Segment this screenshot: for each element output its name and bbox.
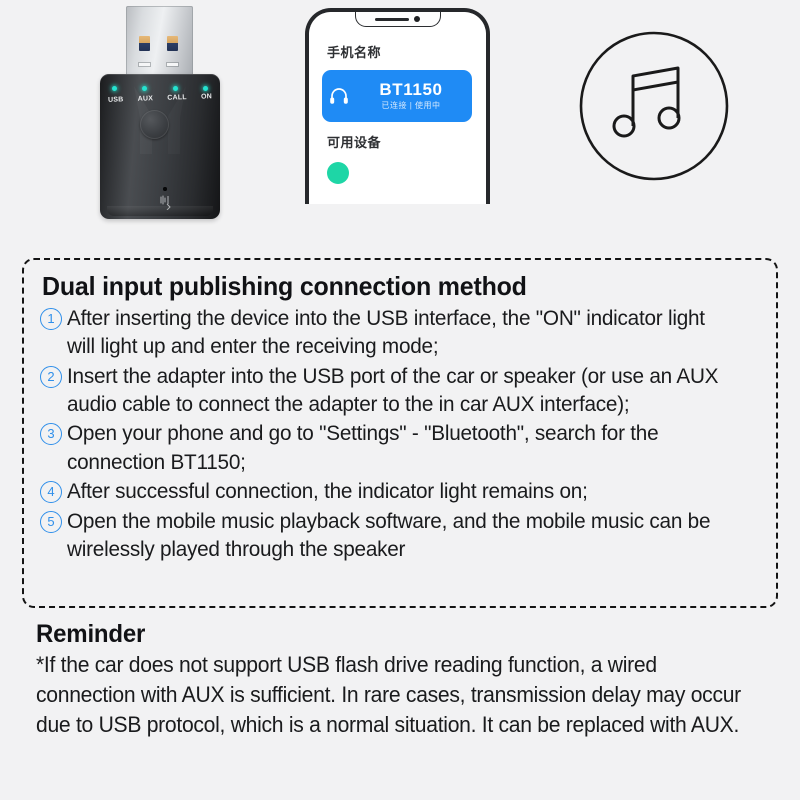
- usb-pin: [139, 36, 150, 51]
- available-device-avatar: [327, 162, 349, 184]
- step-number-badge: 2: [40, 366, 62, 388]
- reminder-section: Reminder *If the car does not support US…: [36, 620, 778, 740]
- reminder-body: *If the car does not support USB flash d…: [36, 650, 748, 740]
- led-aux: [142, 86, 147, 91]
- paired-device-name: BT1150: [356, 81, 466, 99]
- step-text: Open your phone and go to "Settings" - "…: [67, 419, 738, 476]
- screen-heading-available-devices: 可用设备: [327, 132, 381, 151]
- paired-device-card[interactable]: BT1150 已连接 | 使用中: [322, 70, 472, 122]
- screen-heading-device-name: 手机名称: [327, 42, 381, 61]
- led-indicator-row: [112, 86, 208, 91]
- adapter-body: USB AUX CALL ON: [100, 74, 220, 219]
- step-text: After inserting the device into the USB …: [67, 304, 738, 361]
- multifunction-button: [140, 110, 169, 139]
- microphone-hole: [163, 187, 167, 191]
- led-label-aux: AUX: [138, 95, 154, 103]
- usb-a-connector: [126, 6, 193, 80]
- earpiece-speaker-icon: [375, 18, 409, 21]
- front-camera-icon: [414, 16, 420, 22]
- usb-slot: [139, 63, 150, 66]
- led-on: [203, 86, 208, 91]
- product-infographic: USB AUX CALL ON: [0, 0, 800, 800]
- step-item: 5 Open the mobile music playback softwar…: [38, 507, 762, 564]
- led-label-usb: USB: [108, 96, 124, 104]
- step-text: Open the mobile music playback software,…: [67, 507, 738, 564]
- led-label-call: CALL: [167, 94, 187, 102]
- step-text: After successful connection, the indicat…: [67, 477, 738, 505]
- step-number-badge: 3: [40, 423, 62, 445]
- step-item: 4 After successful connection, the indic…: [38, 477, 762, 505]
- bluetooth-usb-adapter-image: USB AUX CALL ON: [100, 4, 220, 219]
- connection-method-panel: Dual input publishing connection method …: [22, 258, 778, 608]
- steps-list: 1 After inserting the device into the US…: [38, 304, 762, 563]
- paired-device-text: BT1150 已连接 | 使用中: [356, 81, 472, 112]
- headphone-icon: [322, 87, 356, 105]
- led-usb: [112, 86, 117, 91]
- step-text: Insert the adapter into the USB port of …: [67, 362, 738, 419]
- step-item: 2 Insert the adapter into the USB port o…: [38, 362, 762, 419]
- paired-device-status: 已连接 | 使用中: [356, 100, 466, 111]
- phone-mockup: 手机名称 BT1150 已连接 | 使用中 可用设备: [305, 8, 490, 204]
- reminder-title: Reminder: [36, 620, 748, 649]
- usb-slot: [167, 63, 178, 66]
- step-item: 3 Open your phone and go to "Settings" -…: [38, 419, 762, 476]
- phone-screen: 手机名称 BT1150 已连接 | 使用中 可用设备: [309, 12, 486, 204]
- step-number-badge: 5: [40, 511, 62, 533]
- led-call: [173, 86, 178, 91]
- hero-images: USB AUX CALL ON: [0, 0, 800, 240]
- usb-pin: [167, 36, 178, 51]
- step-number-badge: 4: [40, 481, 62, 503]
- bluetooth-audio-glyph: [156, 194, 174, 210]
- step-item: 1 After inserting the device into the US…: [38, 304, 762, 361]
- step-number-badge: 1: [40, 308, 62, 330]
- led-label-on: ON: [201, 93, 212, 100]
- phone-notch: [355, 12, 441, 27]
- music-note-icon: [578, 30, 730, 182]
- panel-title: Dual input publishing connection method: [42, 272, 733, 302]
